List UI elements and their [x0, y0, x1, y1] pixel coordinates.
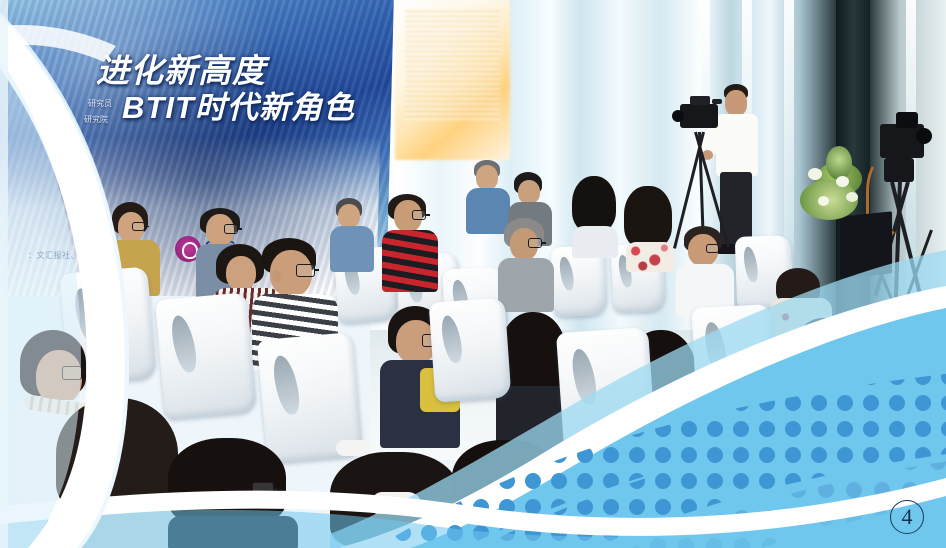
audience-chair: [721, 376, 823, 493]
backdrop-bright-panel: [395, 0, 510, 160]
backdrop-headline-line-2: BTIT时代新角色: [122, 82, 355, 127]
white-shoe: [372, 492, 422, 514]
audience-chair: [429, 297, 512, 402]
audience-member: [452, 440, 572, 548]
audience-member: [382, 194, 438, 290]
stage-monitor-speaker: [840, 211, 892, 278]
audience-member: [572, 176, 622, 256]
audience-chair: [556, 327, 656, 451]
backdrop-small-text-2: 研究院: [84, 114, 108, 125]
backdrop-small-text-1: 研究员: [88, 98, 112, 109]
audience-member: [498, 218, 556, 310]
newspaper-photo-page: 进化新高度 BTIT时代新角色 研究员 研究院 ：文汇报社、上海 CDC 上海市…: [0, 0, 946, 548]
white-shoe: [336, 440, 370, 456]
event-photograph: 进化新高度 BTIT时代新角色 研究员 研究院 ：文汇报社、上海 CDC 上海市…: [0, 0, 946, 548]
audience-member: [624, 186, 676, 272]
page-number: 4: [890, 500, 924, 534]
audience-member: [168, 438, 298, 548]
audience-member: [676, 226, 736, 314]
backdrop-credit-line: ：文汇报社、上海: [28, 250, 96, 261]
